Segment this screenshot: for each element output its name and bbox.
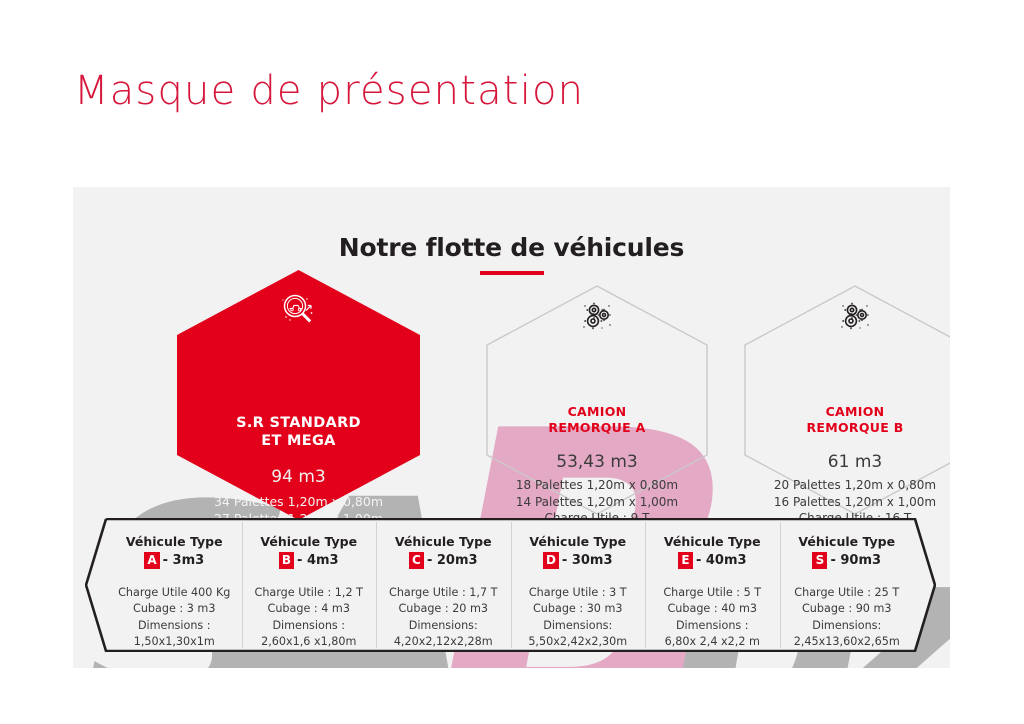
- column-specs: Charge Utile : 3 T Cubage : 30 m3 Dimens…: [511, 585, 646, 650]
- spec-dim-label: Dimensions :: [645, 618, 780, 634]
- spec-cubage: Cubage : 3 m3: [107, 601, 242, 617]
- spec-dim-label: Dimensions :: [107, 618, 242, 634]
- spec-dim-label: Dimensions:: [780, 618, 915, 634]
- card-volume: 53,43 m3: [556, 452, 637, 472]
- card-title: S.R STANDARD ET MEGA: [236, 415, 361, 451]
- code-badge: A: [144, 552, 159, 569]
- column-specs: Charge Utile : 1,2 T Cubage : 4 m3 Dimen…: [242, 585, 377, 650]
- code-badge: E: [678, 552, 693, 569]
- code-size: - 40m3: [696, 553, 747, 568]
- column-head-label: Véhicule Type: [511, 533, 646, 551]
- vehicle-types-table: Véhicule Type A - 3m3 Charge Utile 400 K…: [85, 518, 936, 652]
- table-column-s[interactable]: Véhicule Type S - 90m3 Charge Utile : 25…: [780, 518, 915, 652]
- column-head-label: Véhicule Type: [780, 533, 915, 551]
- spec-cubage: Cubage : 90 m3: [780, 601, 915, 617]
- spec-charge: Charge Utile : 1,2 T: [242, 585, 377, 601]
- code-size: - 20m3: [427, 553, 478, 568]
- column-code: A - 3m3: [107, 552, 242, 569]
- code-size: - 30m3: [562, 553, 613, 568]
- spec-cubage: Cubage : 4 m3: [242, 601, 377, 617]
- column-code: E - 40m3: [645, 552, 780, 569]
- spec-cubage: Cubage : 40 m3: [645, 601, 780, 617]
- column-specs: Charge Utile 400 Kg Cubage : 3 m3 Dimens…: [107, 585, 242, 650]
- vehicle-card-sr-standard[interactable]: S.R STANDARD ET MEGA 94 m3 34 Palettes 1…: [177, 270, 420, 520]
- column-head-label: Véhicule Type: [645, 533, 780, 551]
- card-volume: 94 m3: [271, 467, 325, 487]
- slide-panel: S A B u z z Notre flotte de véhicules: [73, 187, 950, 668]
- column-code: S - 90m3: [780, 552, 915, 569]
- spec-charge: Charge Utile : 1,7 T: [376, 585, 511, 601]
- spec-cubage: Cubage : 30 m3: [511, 601, 646, 617]
- spec-charge: Charge Utile 400 Kg: [107, 585, 242, 601]
- card-spec-line: 18 Palettes 1,20m x 0,80m: [516, 477, 678, 494]
- spec-dim-label: Dimensions:: [376, 618, 511, 634]
- card-title-line1: S.R STANDARD: [236, 415, 361, 433]
- card-spec-line: 16 Palettes 1,20m x 1,00m: [774, 494, 936, 511]
- table-column-b[interactable]: Véhicule Type B - 4m3 Charge Utile : 1,2…: [242, 518, 377, 652]
- page-title: Masque de présentation: [74, 68, 584, 114]
- column-specs: Charge Utile : 1,7 T Cubage : 20 m3 Dime…: [376, 585, 511, 650]
- spec-charge: Charge Utile : 3 T: [511, 585, 646, 601]
- column-code: B - 4m3: [242, 552, 377, 569]
- code-badge: C: [409, 552, 424, 569]
- code-badge: B: [279, 552, 294, 569]
- headline-underline: [480, 271, 544, 275]
- column-specs: Charge Utile : 5 T Cubage : 40 m3 Dimens…: [645, 585, 780, 650]
- spec-dim-label: Dimensions :: [242, 618, 377, 634]
- slide-headline: Notre flotte de véhicules: [73, 233, 950, 262]
- spec-dim-value: 2,60x1,6 x1,80m: [242, 634, 377, 650]
- spec-dim-label: Dimensions:: [511, 618, 646, 634]
- table-column-a[interactable]: Véhicule Type A - 3m3 Charge Utile 400 K…: [107, 518, 242, 652]
- code-size: - 90m3: [830, 553, 881, 568]
- truck-magnifier-icon: [278, 290, 320, 335]
- card-spec-line: 34 Palettes 1,20m x 0,80m: [214, 493, 383, 510]
- spec-charge: Charge Utile : 5 T: [645, 585, 780, 601]
- card-title-line1: CAMION: [806, 404, 903, 420]
- card-title: CAMION REMORQUE A: [548, 404, 645, 435]
- column-head-label: Véhicule Type: [376, 533, 511, 551]
- code-badge: D: [543, 552, 559, 569]
- spec-charge: Charge Utile : 25 T: [780, 585, 915, 601]
- card-title-line2: REMORQUE A: [548, 420, 645, 436]
- card-title: CAMION REMORQUE B: [806, 404, 903, 435]
- spec-dim-value: 6,80x 2,4 x2,2 m: [645, 634, 780, 650]
- gears-icon: [580, 301, 614, 338]
- headline-block: Notre flotte de véhicules: [73, 233, 950, 275]
- table-column-c[interactable]: Véhicule Type C - 20m3 Charge Utile : 1,…: [376, 518, 511, 652]
- vehicle-card-camion-remorque-a[interactable]: CAMION REMORQUE A 53,43 m3 18 Palettes 1…: [486, 285, 708, 515]
- spec-dim-value: 5,50x2,42x2,30m: [511, 634, 646, 650]
- card-spec-line: 20 Palettes 1,20m x 0,80m: [774, 477, 936, 494]
- column-head-label: Véhicule Type: [107, 533, 242, 551]
- code-badge: S: [812, 552, 827, 569]
- spec-dim-value: 4,20x2,12x2,28m: [376, 634, 511, 650]
- card-spec-line: 14 Palettes 1,20m x 1,00m: [516, 494, 678, 511]
- card-volume: 61 m3: [828, 452, 882, 472]
- column-specs: Charge Utile : 25 T Cubage : 90 m3 Dimen…: [780, 585, 915, 650]
- code-size: - 3m3: [163, 553, 205, 568]
- table-columns: Véhicule Type A - 3m3 Charge Utile 400 K…: [107, 518, 914, 652]
- gears-icon: [838, 301, 872, 338]
- vehicle-card-camion-remorque-b[interactable]: CAMION REMORQUE B 61 m3 20 Palettes 1,20…: [744, 285, 950, 515]
- column-code: D - 30m3: [511, 552, 646, 569]
- table-column-d[interactable]: Véhicule Type D - 30m3 Charge Utile : 3 …: [511, 518, 646, 652]
- spec-dim-value: 1,50x1,30x1m: [107, 634, 242, 650]
- spec-dim-value: 2,45x13,60x2,65m: [780, 634, 915, 650]
- column-code: C - 20m3: [376, 552, 511, 569]
- code-size: - 4m3: [297, 553, 339, 568]
- card-title-line2: ET MEGA: [236, 433, 361, 451]
- card-title-line1: CAMION: [548, 404, 645, 420]
- column-head-label: Véhicule Type: [242, 533, 377, 551]
- table-column-e[interactable]: Véhicule Type E - 40m3 Charge Utile : 5 …: [645, 518, 780, 652]
- card-title-line2: REMORQUE B: [806, 420, 903, 436]
- spec-cubage: Cubage : 20 m3: [376, 601, 511, 617]
